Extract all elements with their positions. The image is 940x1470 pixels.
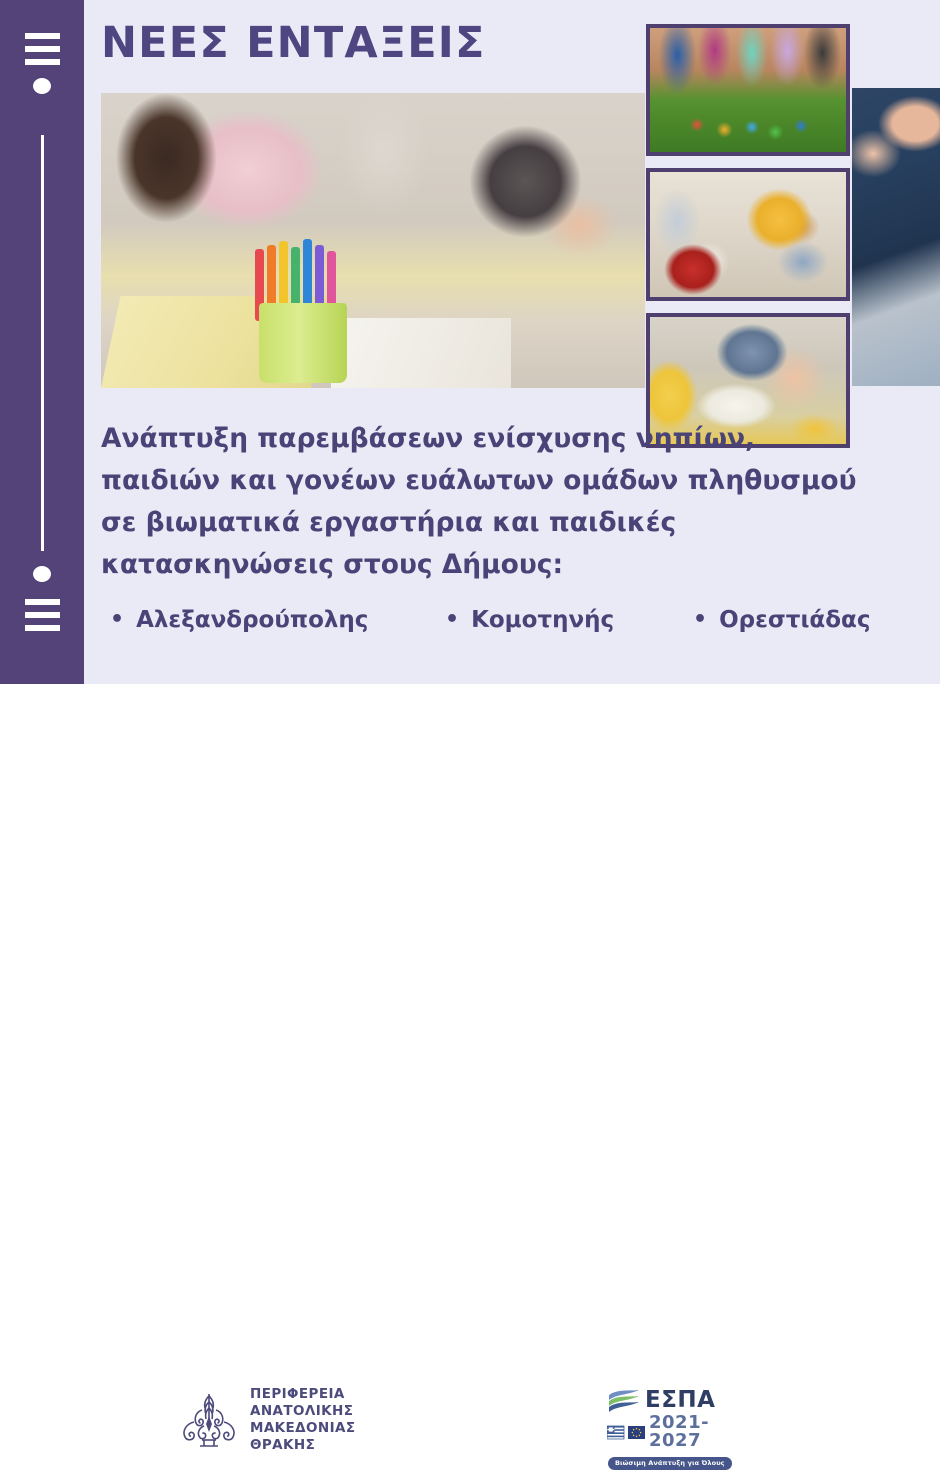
espa-tagline: Βιώσιμη Ανάπτυξη για Όλους (608, 1457, 732, 1470)
list-item: • Ορεστιάδας (693, 607, 893, 633)
sidebar-bottom-bar-3 (25, 625, 60, 631)
sidebar-top-dot (33, 78, 51, 94)
municipality-label: Αλεξανδρούπολης (136, 607, 368, 633)
municipality-label: Ορεστιάδας (719, 607, 870, 633)
sidebar-vertical-line (41, 135, 44, 551)
poster: ΝΕΕΣ ΕΝΤΑΞΕΙΣ (0, 0, 940, 788)
green-pencil-cup (259, 303, 347, 383)
espa-wordmark: ΕΣΠΑ (645, 1389, 715, 1412)
sidebar-top-bar-3 (25, 59, 60, 65)
photo-thumb-1-fill (650, 28, 846, 152)
page-title: ΝΕΕΣ ΕΝΤΑΞΕΙΣ (101, 18, 486, 68)
espa-logo: ΕΣΠΑ (607, 1387, 727, 1470)
bullet-icon: • (110, 609, 124, 631)
sidebar-top-bar-2 (25, 46, 60, 52)
sidebar-top-bar-1 (25, 33, 60, 39)
espa-years: 2021-2027 (649, 1414, 727, 1450)
photo-children-playing-with-balls-outdoors (646, 24, 850, 156)
decorative-sidebar (0, 0, 84, 684)
sidebar-bottom-bar-2 (25, 612, 60, 618)
bullet-icon: • (445, 609, 459, 631)
espa-title-row: ΕΣΠΑ (607, 1387, 727, 1413)
region-line-1: ΠΕΡΙΦΕΡΕΙΑ (250, 1386, 355, 1403)
content-panel: ΝΕΕΣ ΕΝΤΑΞΕΙΣ (0, 0, 940, 684)
photo-background-fill (852, 88, 940, 386)
sidebar-bottom-dot (33, 566, 51, 582)
municipality-list: • Αλεξανδρούπολης • Κομοτηνής • Ορεστιάδ… (110, 607, 910, 633)
region-line-3: ΜΑΚΕΔΟΝΙΑΣ (250, 1420, 355, 1437)
body-paragraph: Ανάπτυξη παρεμβάσεων ενίσχυσης νηπίων, π… (101, 418, 861, 586)
region-logo: ΠΕΡΙΦΕΡΕΙΑ ΑΝΑΤΟΛΙΚΗΣ ΜΑΚΕΔΟΝΙΑΣ ΘΡΑΚΗΣ (178, 1386, 355, 1454)
photo-main-fill (101, 93, 645, 388)
white-paper-shape (331, 318, 511, 388)
region-logo-text: ΠΕΡΙΦΕΡΕΙΑ ΑΝΑΤΟΛΙΚΗΣ ΜΑΚΕΔΟΝΙΑΣ ΘΡΑΚΗΣ (250, 1386, 355, 1454)
municipality-label: Κομοτηνής (471, 607, 614, 633)
region-line-2: ΑΝΑΤΟΛΙΚΗΣ (250, 1403, 355, 1420)
photo-children-drawing-with-pencils (101, 93, 645, 388)
espa-years-row: 2021-2027 (607, 1414, 727, 1450)
greece-eu-flags-icon (607, 1425, 645, 1440)
sidebar-bottom-bar-1 (25, 599, 60, 605)
acanthus-palmette-emblem-icon (178, 1388, 240, 1452)
footer: ΠΕΡΙΦΕΡΕΙΑ ΑΝΑΤΟΛΙΚΗΣ ΜΑΚΕΔΟΝΙΑΣ ΘΡΑΚΗΣ … (0, 684, 940, 788)
photo-thumb-2-fill (650, 172, 846, 297)
photo-child-in-jeans-background (852, 88, 940, 386)
region-line-4: ΘΡΑΚΗΣ (250, 1437, 355, 1454)
bullet-icon: • (693, 609, 707, 631)
espa-waves-icon (607, 1388, 641, 1412)
photo-children-playing-drum-and-ukulele (646, 168, 850, 301)
list-item: • Αλεξανδρούπολης (110, 607, 445, 633)
pencil-cup-group (251, 233, 356, 383)
list-item: • Κομοτηνής (445, 607, 693, 633)
